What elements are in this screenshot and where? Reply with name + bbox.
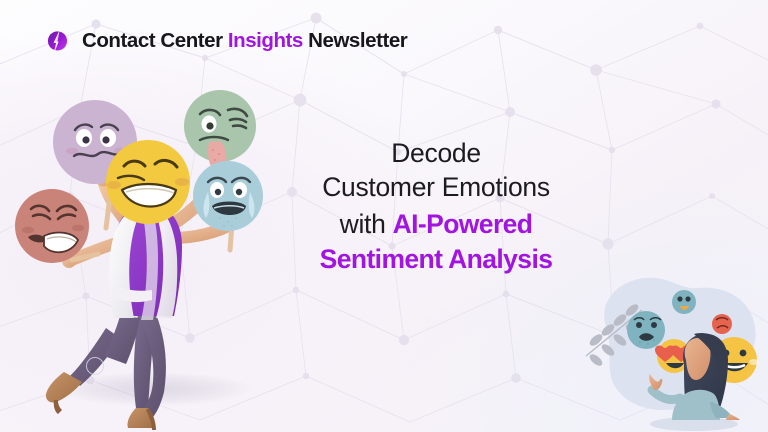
- brand-title-accent: Insights: [228, 29, 303, 52]
- mask-happy-yellow: [106, 140, 190, 224]
- brand-title: Contact Center Insights Newsletter: [82, 31, 407, 52]
- headline-line-3: with AI-Powered: [286, 207, 586, 241]
- headline-line-3-plain: with: [340, 209, 393, 239]
- headline-block: Decode Customer Emotions with AI-Powered…: [286, 136, 586, 277]
- emoji-small-red: [712, 314, 732, 334]
- headline-line-1: Decode: [286, 136, 586, 170]
- brand-title-prefix: Contact Center: [82, 29, 228, 52]
- emoji-small-teal: [672, 290, 696, 314]
- emoji-reactions-woman-illustration: [576, 268, 768, 432]
- headline-line-4: Sentiment Analysis: [286, 242, 586, 276]
- emoji-sad-blue: [627, 311, 665, 349]
- headline-line-3-accent: AI-Powered: [393, 209, 533, 239]
- decorative-ring: [86, 357, 104, 375]
- headline-line-2: Customer Emotions: [286, 170, 586, 204]
- newsletter-banner: Contact Center Insights Newsletter Decod…: [0, 0, 768, 432]
- brand-logo-icon: [44, 28, 71, 55]
- emoji-mask-woman-illustration: [14, 78, 284, 432]
- newsletter-header: Contact Center Insights Newsletter: [44, 28, 407, 55]
- brand-title-suffix: Newsletter: [303, 29, 407, 52]
- headline-line-4-accent: Sentiment Analysis: [320, 244, 553, 274]
